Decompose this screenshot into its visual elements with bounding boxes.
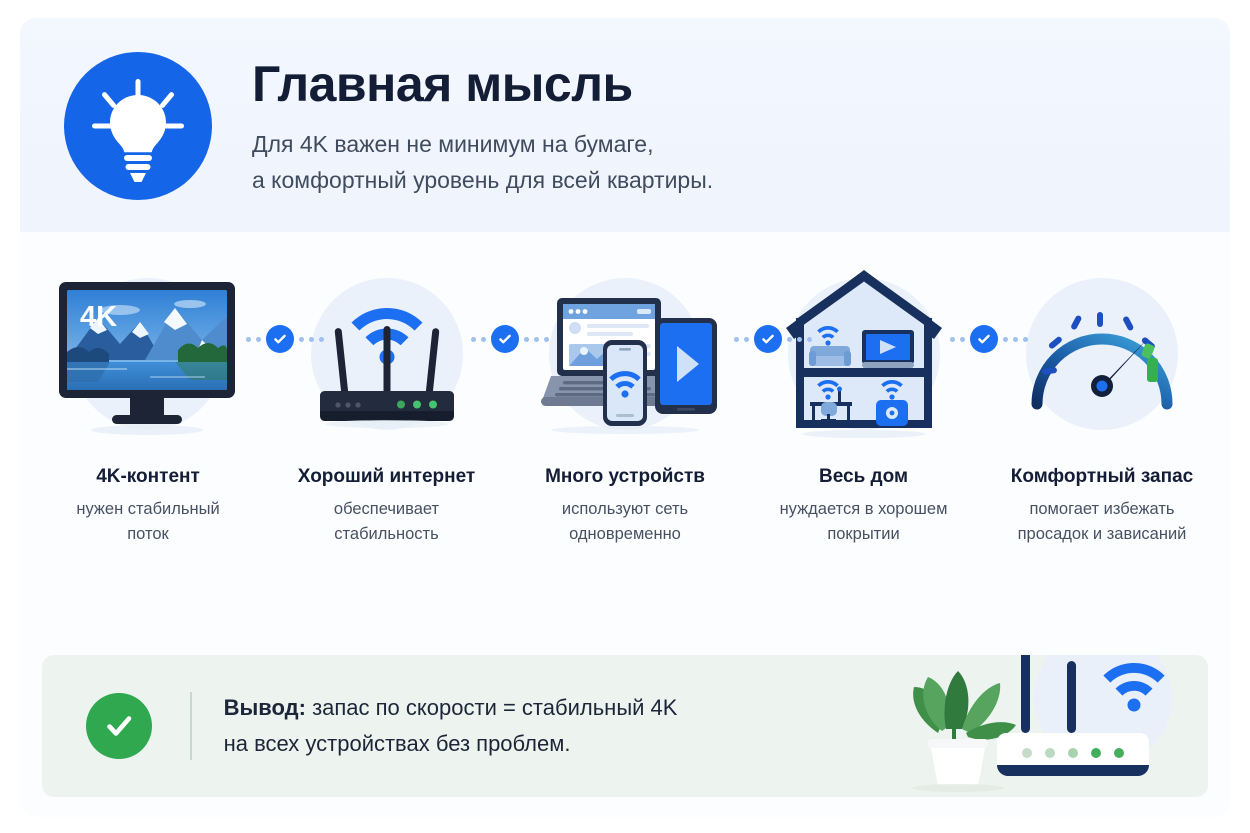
connector-dot — [787, 337, 792, 342]
step-description: помогает избежать просадок и зависаний — [1018, 497, 1187, 547]
step-title: 4K-контент — [96, 466, 200, 488]
infographic-card: Главная мысль Для 4K важен не минимум на… — [20, 18, 1230, 817]
step-description-line-1: нуждается в хорошем — [780, 497, 948, 522]
tv-4k-icon: 4K — [48, 256, 248, 452]
step-description: используют сеть одновременно — [562, 497, 688, 547]
connector-dot — [744, 337, 749, 342]
step-comfort-margin[interactable]: Комфортный запас помогает избежать проса… — [996, 256, 1208, 547]
header-subtitle-line-2: а комфортный уровень для всей квартиры. — [252, 163, 713, 199]
connector-dot — [1013, 337, 1018, 342]
connector-dot — [319, 337, 324, 342]
page-title: Главная мысль — [252, 58, 713, 111]
check-circle-icon — [86, 693, 152, 759]
step-good-internet[interactable]: Хороший интернет обеспечивает стабильнос… — [281, 256, 493, 547]
connector-dot — [256, 337, 261, 342]
check-circle-icon[interactable] — [491, 325, 519, 353]
connector-dot — [797, 337, 802, 342]
step-many-devices[interactable]: Много устройств используют сеть одноврем… — [519, 256, 731, 547]
plant-icon — [912, 671, 1016, 792]
step-description: нужен стабильный поток — [76, 497, 219, 547]
tablet-icon — [655, 318, 717, 414]
check-circle-icon[interactable] — [970, 325, 998, 353]
connector-4 — [950, 325, 1028, 353]
header-subtitle-line-1: Для 4K важен не минимум на бумаге, — [252, 127, 713, 163]
steps-row: 4K 4K-контент нужен стабильный поток — [42, 256, 1208, 547]
step-description-line-2: покрытии — [780, 522, 948, 547]
wifi-icon — [1103, 663, 1164, 712]
header-text-block: Главная мысль Для 4K важен не минимум на… — [252, 44, 713, 199]
step-title: Весь дом — [819, 466, 908, 488]
conclusion-line-1-rest: запас по скорости = стабильный 4K — [306, 695, 678, 720]
conclusion-text: Вывод: запас по скорости = стабильный 4K… — [224, 690, 678, 761]
conclusion-label: Вывод: — [224, 695, 306, 720]
connector-dot — [544, 337, 549, 342]
divider — [190, 692, 192, 760]
connector-dot — [950, 337, 955, 342]
router-antennas — [334, 326, 439, 396]
connector-dot — [1023, 337, 1028, 342]
check-circle-icon[interactable] — [266, 325, 294, 353]
step-description-line-2: поток — [76, 522, 219, 547]
connector-dot — [309, 337, 314, 342]
connector-dot — [1003, 337, 1008, 342]
header: Главная мысль Для 4K важен не минимум на… — [20, 18, 1230, 232]
step-description-line-1: обеспечивает — [334, 497, 439, 522]
sofa-icon — [809, 346, 851, 366]
step-description: обеспечивает стабильность — [334, 497, 439, 547]
house-coverage-icon — [764, 256, 964, 452]
step-description-line-1: используют сеть — [562, 497, 688, 522]
step-title: Много устройств — [545, 466, 705, 488]
step-4k-content[interactable]: 4K 4K-контент нужен стабильный поток — [42, 256, 254, 547]
tv-4k-badge-text: 4K — [80, 301, 117, 333]
connector-3 — [734, 325, 812, 353]
conclusion-line-2: на всех устройствах без проблем. — [224, 726, 678, 762]
connector-2 — [471, 325, 549, 353]
multi-devices-icon — [525, 256, 725, 452]
plant-and-router-icon — [880, 655, 1180, 797]
connector-dot — [246, 337, 251, 342]
connector-dot — [481, 337, 486, 342]
header-subtitle: Для 4K важен не минимум на бумаге, а ком… — [252, 127, 713, 199]
step-title: Комфортный запас — [1011, 466, 1193, 488]
smart-device-icon — [876, 400, 908, 426]
speedometer-icon — [1002, 256, 1202, 452]
step-description-line-2: стабильность — [334, 522, 439, 547]
connector-dot — [524, 337, 529, 342]
connector-dot — [807, 337, 812, 342]
connector-dot — [299, 337, 304, 342]
step-description-line-1: помогает избежать — [1018, 497, 1187, 522]
lightbulb-icon — [64, 52, 212, 200]
conclusion-line-1: Вывод: запас по скорости = стабильный 4K — [224, 690, 678, 726]
step-description-line-2: просадок и зависаний — [1018, 522, 1187, 547]
connector-dot — [471, 337, 476, 342]
step-description-line-1: нужен стабильный — [76, 497, 219, 522]
connector-dot — [734, 337, 739, 342]
connector-dot — [534, 337, 539, 342]
infographic-page: Главная мысль Для 4K важен не минимум на… — [0, 0, 1250, 833]
step-description-line-2: одновременно — [562, 522, 688, 547]
step-title: Хороший интернет — [298, 466, 475, 488]
tv-upper-icon — [862, 330, 914, 368]
connector-1 — [246, 325, 324, 353]
check-circle-icon[interactable] — [754, 325, 782, 353]
conclusion-banner: Вывод: запас по скорости = стабильный 4K… — [42, 655, 1208, 797]
connector-dot — [960, 337, 965, 342]
phone-icon — [603, 340, 647, 426]
steps-section: 4K 4K-контент нужен стабильный поток — [20, 232, 1230, 655]
step-description: нуждается в хорошем покрытии — [780, 497, 948, 547]
wifi-router-icon — [287, 256, 487, 452]
step-whole-house[interactable]: Весь дом нуждается в хорошем покрытии — [758, 256, 970, 547]
